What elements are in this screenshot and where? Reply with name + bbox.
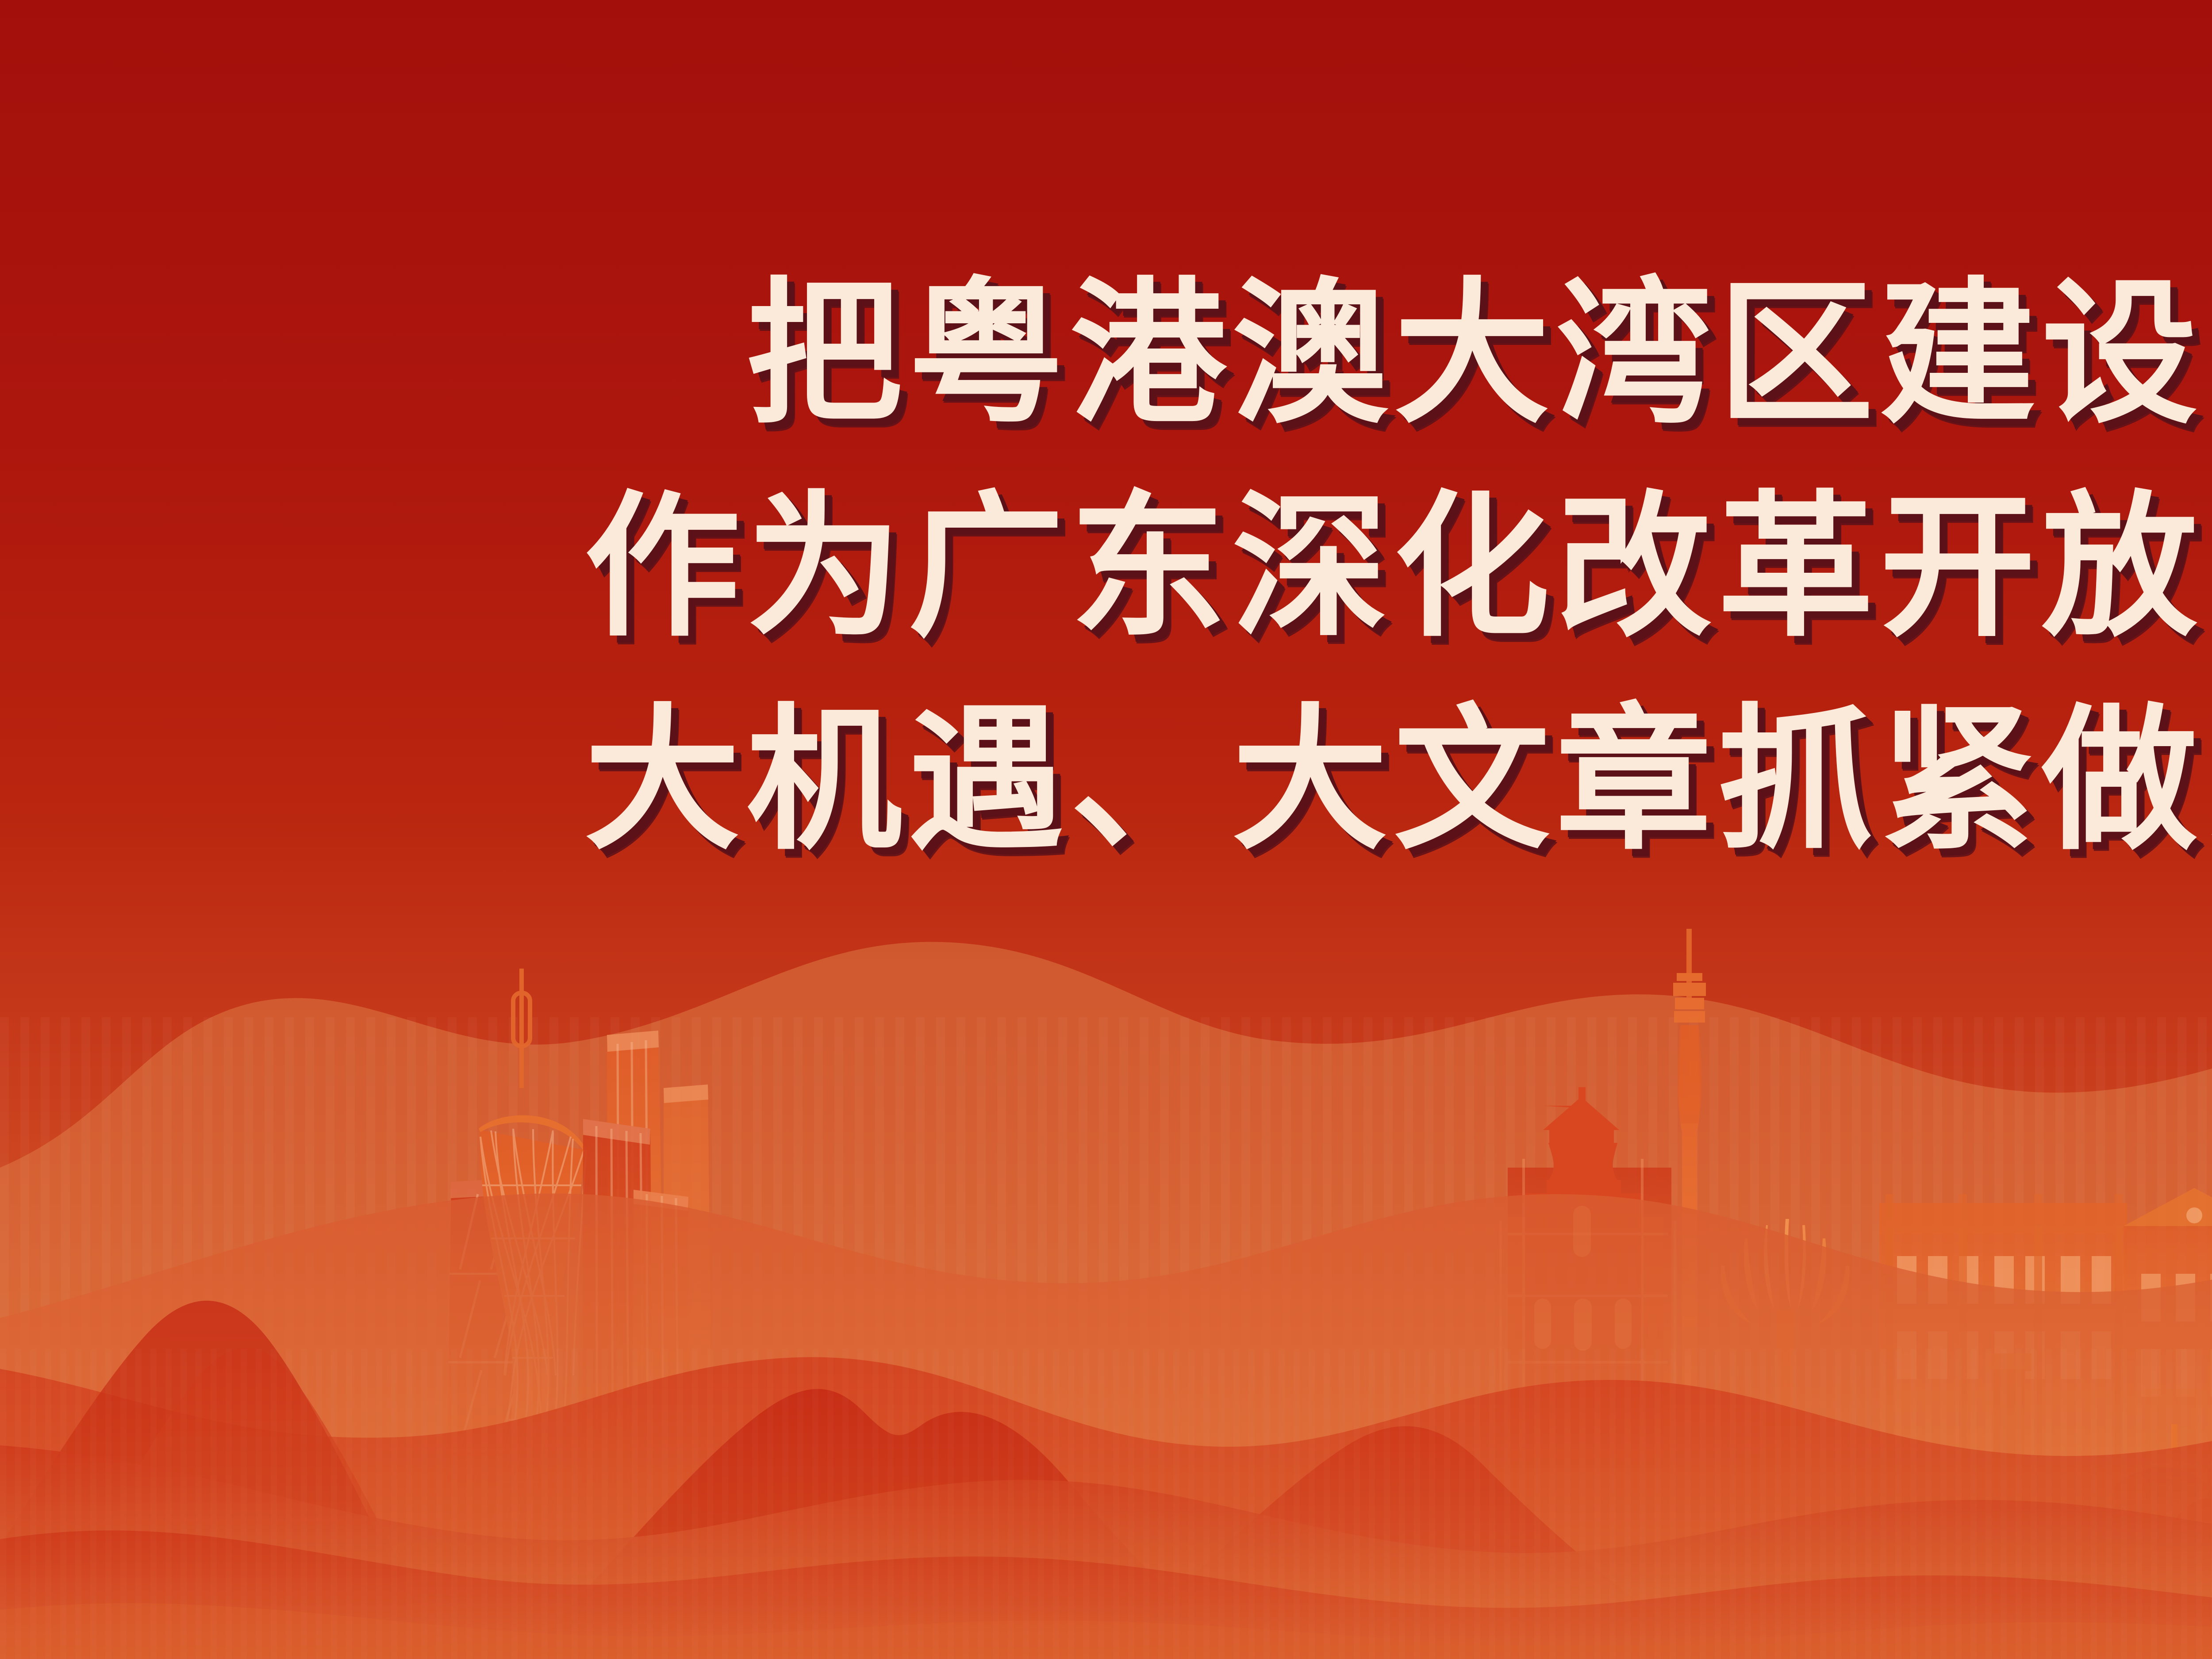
canton-tower-antenna (519, 969, 524, 1088)
headline-line-3: 大机遇、大文章抓紧做实 (0, 674, 2212, 887)
headline-line-2: 作为广东深化改革开放的 (0, 461, 2212, 674)
headline-line-1: 把粤港澳大湾区建设 (0, 248, 2212, 461)
headline-block: 把粤港澳大湾区建设 作为广东深化改革开放的 大机遇、大文章抓紧做实 (0, 248, 2212, 888)
bottom-stripe-overlay (0, 1349, 2212, 1659)
poster-root: 把粤港澳大湾区建设 作为广东深化改革开放的 大机遇、大文章抓紧做实 (0, 0, 2212, 1659)
